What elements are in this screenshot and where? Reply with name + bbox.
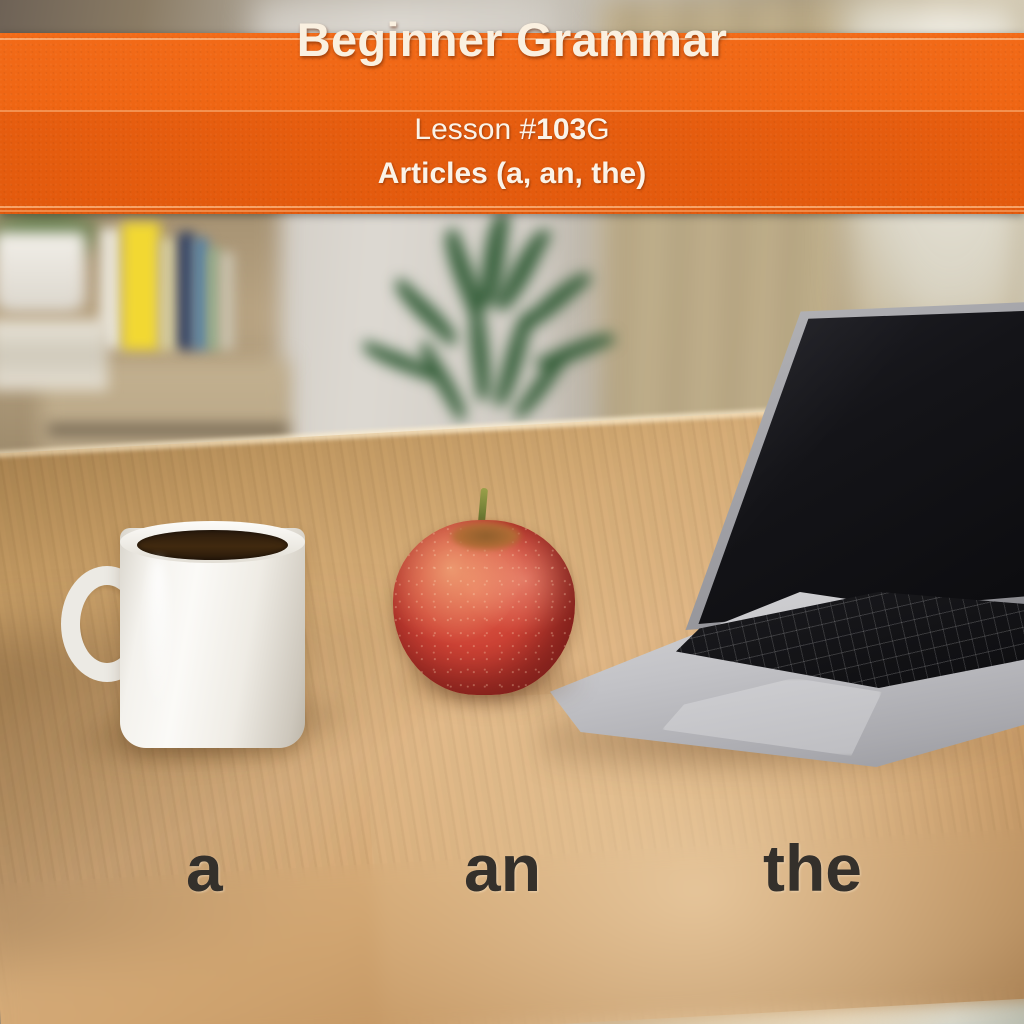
cabinet-seam xyxy=(48,424,288,436)
book xyxy=(194,238,208,350)
lesson-prefix: Lesson # xyxy=(414,113,536,146)
screen-reflection xyxy=(616,306,1024,624)
banner-rule-middle xyxy=(0,110,1024,112)
book xyxy=(160,238,178,350)
label-article-the: the xyxy=(763,833,862,903)
coffee-surface xyxy=(137,530,288,560)
lesson-number-line: Lesson #103G xyxy=(0,113,1024,147)
mug-highlight xyxy=(147,558,169,708)
label-article-a: a xyxy=(186,833,223,903)
page-title: Beginner Grammar xyxy=(0,6,1024,74)
lesson-topic: Articles (a, an, the) xyxy=(0,157,1024,191)
lesson-number: 103 xyxy=(536,113,586,146)
label-article-an: an xyxy=(464,833,541,903)
coffee-mug xyxy=(95,528,315,753)
apple-dimple xyxy=(451,522,521,550)
banner-rule-bottom xyxy=(0,206,1024,208)
banner-rule-bottom-2 xyxy=(0,210,1024,212)
book-stack xyxy=(0,320,108,390)
red-apple xyxy=(393,520,575,695)
laptop xyxy=(556,300,1024,770)
lesson-slide: Beginner Grammar Lesson #103G Articles (… xyxy=(0,0,1024,1024)
shelf-plant-pot xyxy=(0,232,85,312)
book xyxy=(122,222,160,350)
book xyxy=(178,232,194,350)
book xyxy=(220,252,234,350)
lesson-suffix: G xyxy=(586,113,609,146)
book xyxy=(208,248,220,350)
